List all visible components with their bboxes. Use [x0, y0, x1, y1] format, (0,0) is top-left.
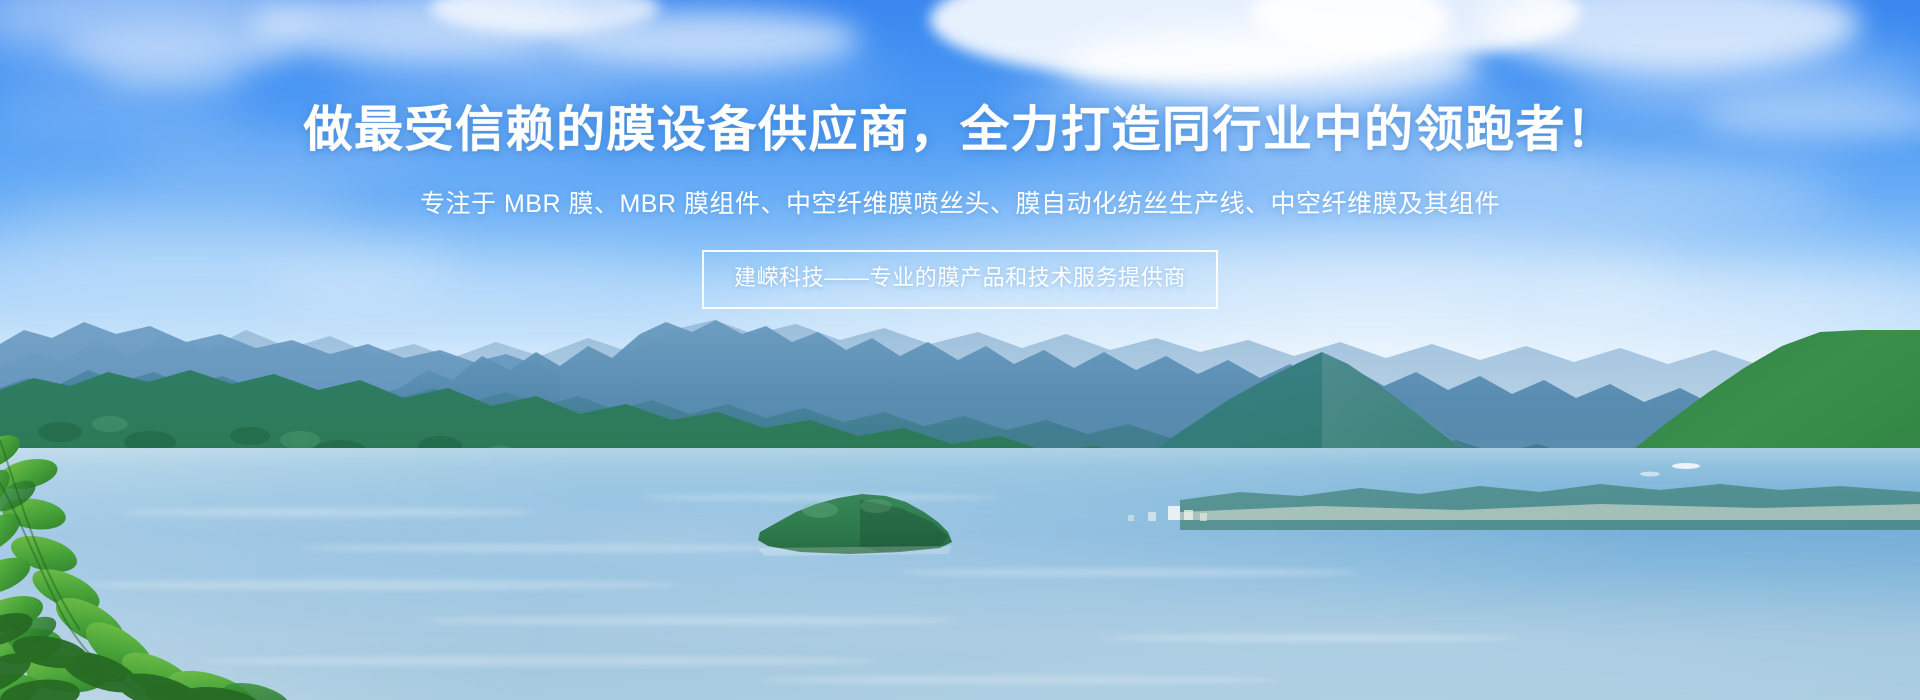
banner-tagline-row: 建嵘科技——专业的膜产品和技术服务提供商 [0, 222, 1920, 309]
banner-tagline-box: 建嵘科技——专业的膜产品和技术服务提供商 [702, 250, 1218, 309]
hero-banner: 做最受信赖的膜设备供应商，全力打造同行业中的领跑者！ 专注于 MBR 膜、MBR… [0, 0, 1920, 700]
foreground-foliage-corner [0, 600, 280, 700]
banner-text-block: 做最受信赖的膜设备供应商，全力打造同行业中的领跑者！ 专注于 MBR 膜、MBR… [0, 0, 1920, 309]
banner-subheadline: 专注于 MBR 膜、MBR 膜组件、中空纤维膜喷丝头、膜自动化纺丝生产线、中空纤… [0, 161, 1920, 222]
banner-headline: 做最受信赖的膜设备供应商，全力打造同行业中的领跑者！ [0, 0, 1920, 161]
